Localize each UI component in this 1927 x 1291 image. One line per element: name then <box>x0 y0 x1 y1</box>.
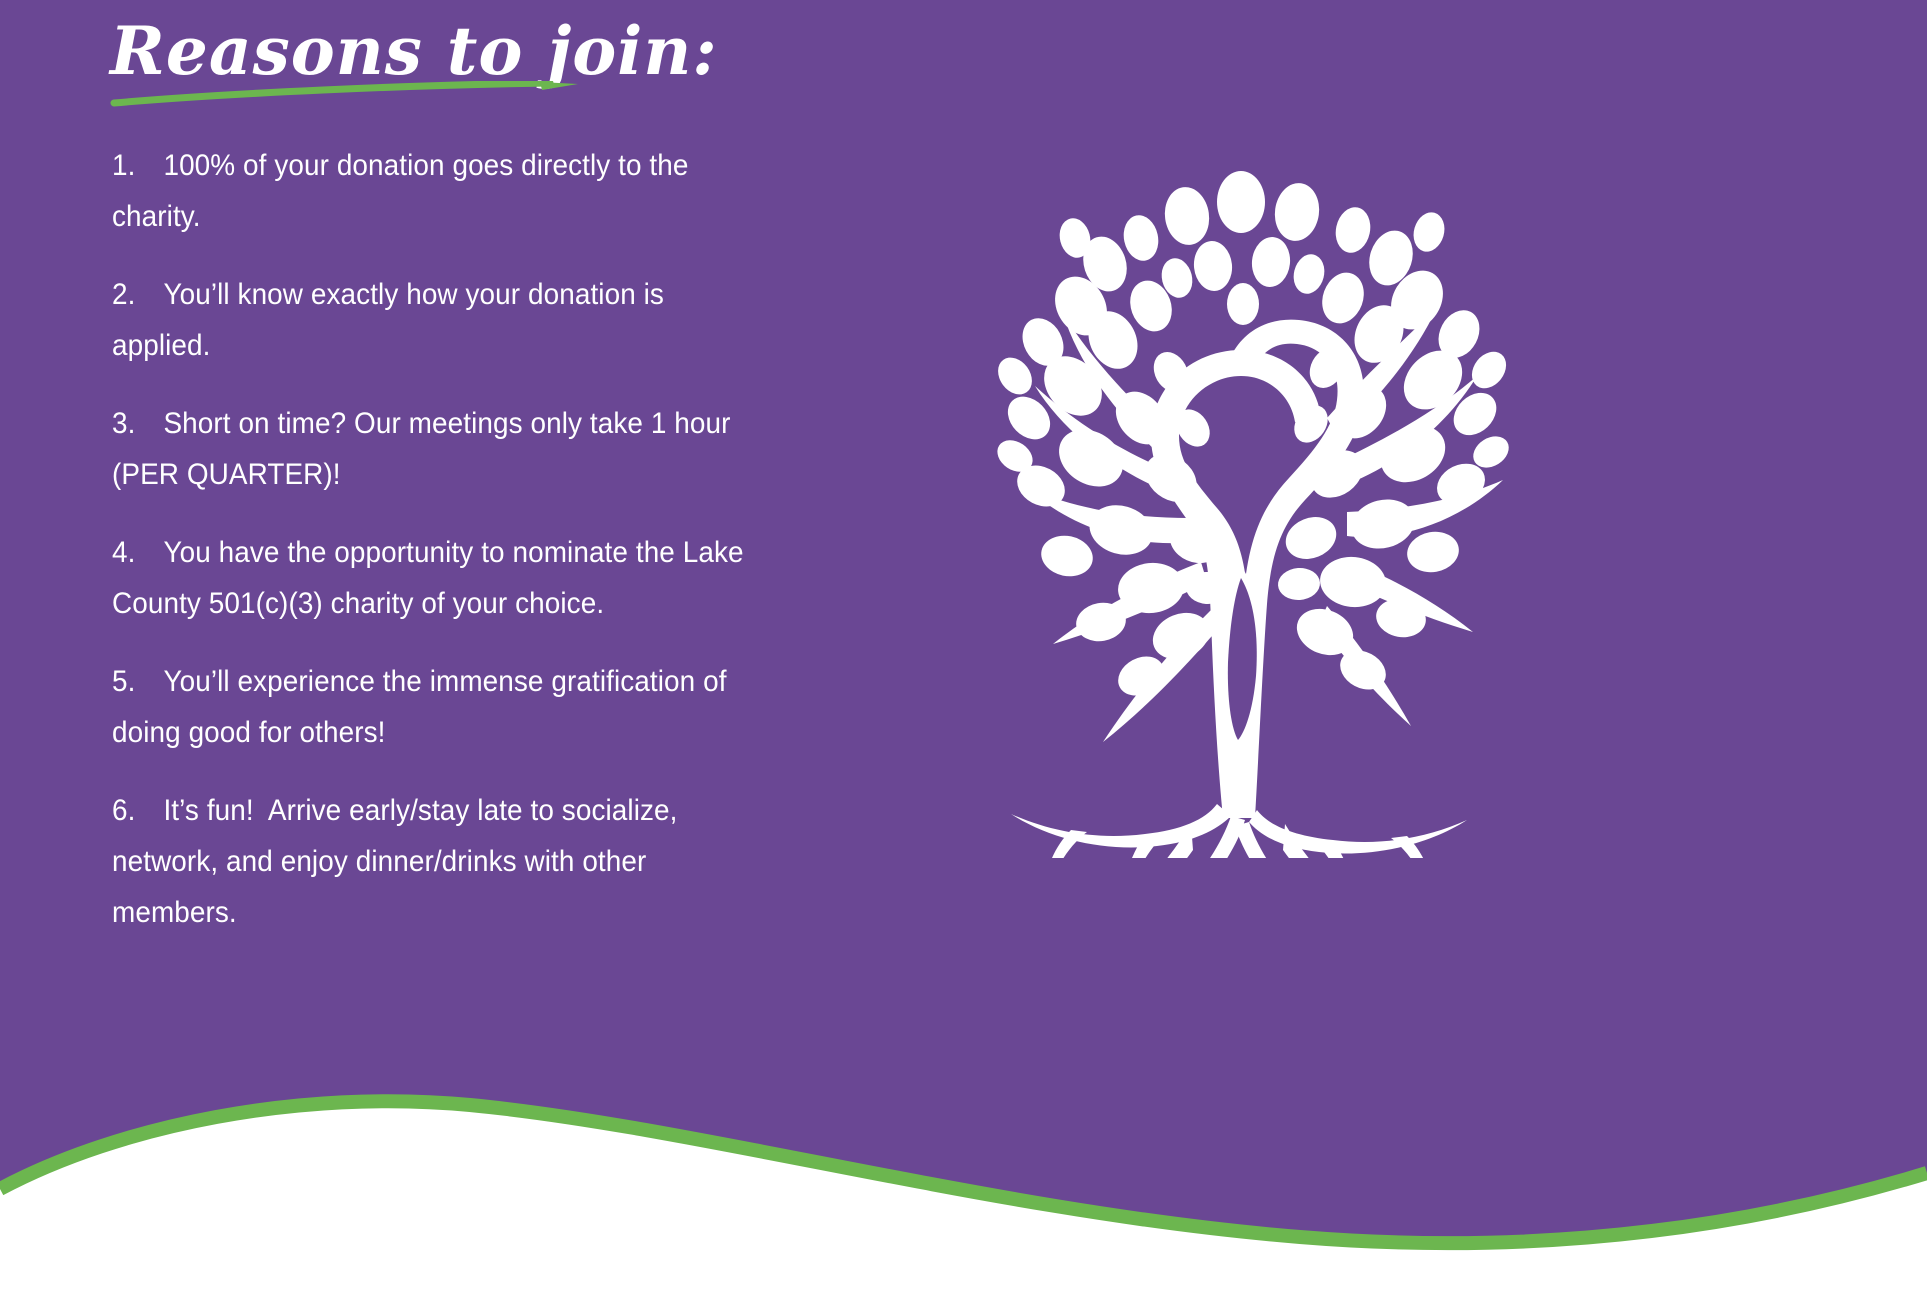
reasons-list: 1. 100% of your donation goes directly t… <box>112 140 812 965</box>
list-item-text: You’ll know exactly how your donation is… <box>112 278 672 362</box>
list-item-number: 1. <box>112 149 163 182</box>
list-item: 6. It’s fun! Arrive early/stay late to s… <box>112 785 763 938</box>
list-item: 5. You’ll experience the immense gratifi… <box>112 656 763 758</box>
list-item: 2. You’ll know exactly how your donation… <box>112 269 763 371</box>
list-item: 1. 100% of your donation goes directly t… <box>112 140 763 242</box>
bottom-wave-divider <box>0 1061 1927 1291</box>
list-item-text: 100% of your donation goes directly to t… <box>112 149 696 233</box>
list-item-text: You’ll experience the immense gratificat… <box>112 665 734 749</box>
list-item: 3. Short on time? Our meetings only take… <box>112 398 763 500</box>
heart-tree-icon <box>955 118 1515 858</box>
list-item-text: Short on time? Our meetings only take 1 … <box>112 407 738 491</box>
list-item-number: 6. <box>112 794 163 827</box>
heading-block: Reasons to join: <box>110 18 870 107</box>
slide-canvas: Reasons to join: 1. 100% of your donatio… <box>0 0 1927 1291</box>
list-item-number: 4. <box>112 536 163 569</box>
list-item-text: It’s fun! Arrive early/stay late to soci… <box>112 794 685 929</box>
list-item-number: 5. <box>112 665 163 698</box>
list-item: 4. You have the opportunity to nominate … <box>112 527 763 629</box>
list-item-number: 2. <box>112 278 163 311</box>
list-item-number: 3. <box>112 407 163 440</box>
list-item-text: You have the opportunity to nominate the… <box>112 536 751 620</box>
page-title: Reasons to join: <box>110 18 870 85</box>
